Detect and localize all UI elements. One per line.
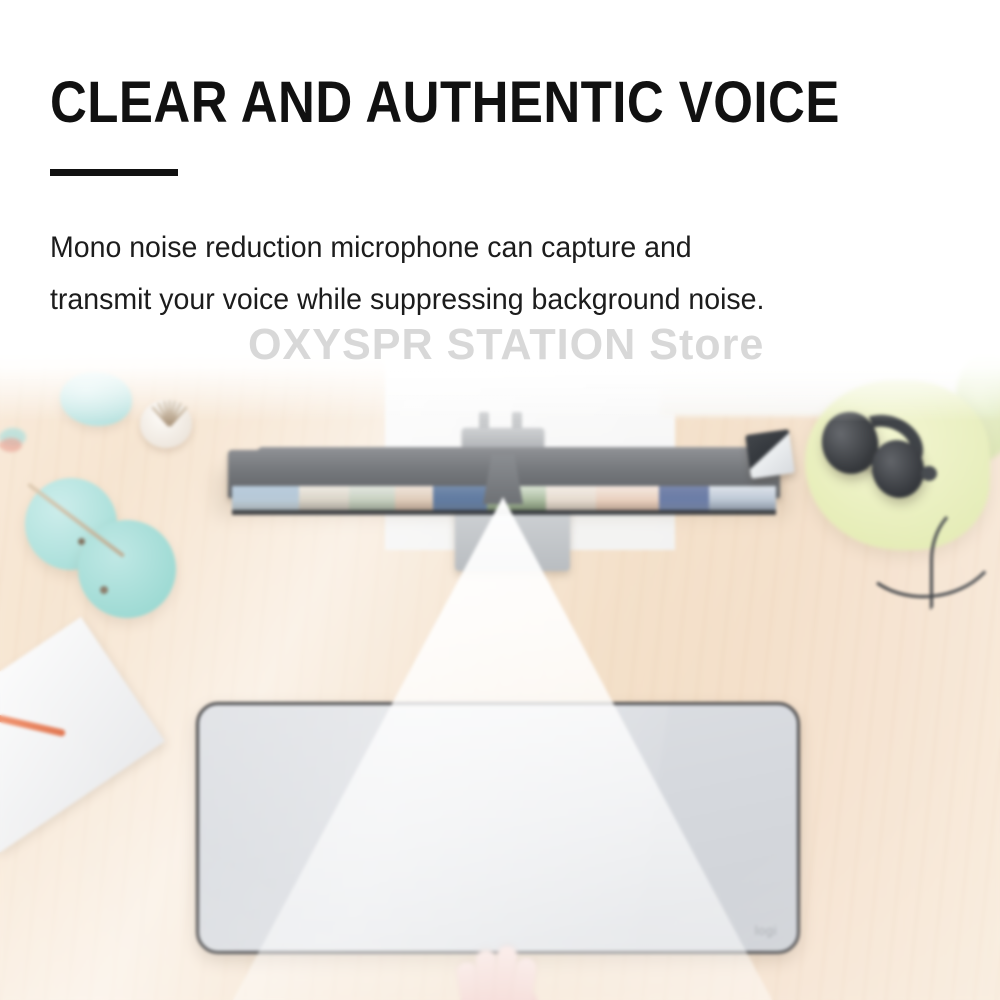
text-block: CLEAR AND AUTHENTIC VOICE Mono noise red… bbox=[0, 0, 1000, 372]
coral-accessory-small-icon bbox=[0, 438, 22, 452]
page-title: CLEAR AND AUTHENTIC VOICE bbox=[50, 74, 840, 132]
mint-bowl bbox=[60, 372, 132, 426]
headphone-hinge bbox=[921, 466, 937, 481]
mat-highlight bbox=[196, 702, 671, 954]
dark-device-box bbox=[745, 429, 795, 479]
mat-brand-logo: logi bbox=[755, 923, 777, 938]
desk-mat: logi bbox=[196, 702, 800, 954]
product-photo: logi logi bbox=[0, 350, 1000, 1000]
body-copy: Mono noise reduction microphone can capt… bbox=[50, 222, 924, 325]
potted-plant-icon bbox=[142, 382, 194, 434]
knob-upper bbox=[78, 538, 85, 545]
title-divider bbox=[50, 169, 178, 176]
monitor-lower-bezel bbox=[232, 510, 776, 515]
hand bbox=[455, 928, 545, 1000]
banner-page: logi logi bbox=[0, 0, 1000, 1000]
knob-lower bbox=[100, 586, 108, 594]
